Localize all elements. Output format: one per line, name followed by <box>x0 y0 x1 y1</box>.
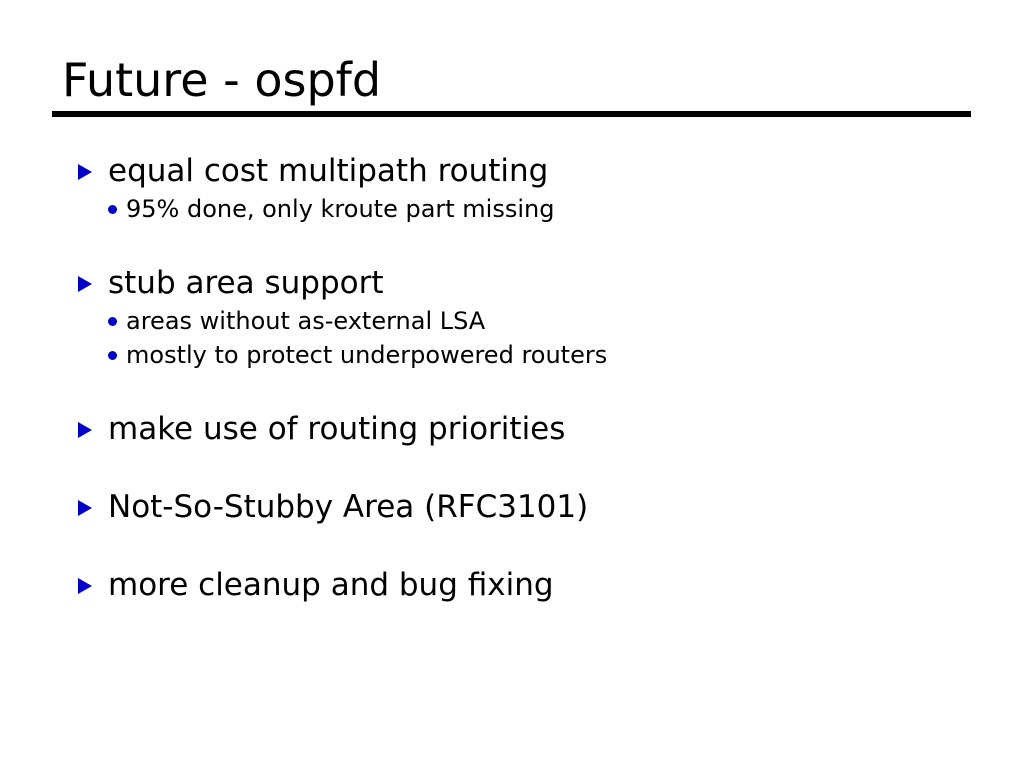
bullet-label: more cleanup and bug fixing <box>108 567 554 603</box>
sub-bullet-label: 95% done, only kroute part missing <box>126 195 554 223</box>
bullet-item-level2: mostly to protect underpowered routers <box>0 338 1024 372</box>
bullet-group: more cleanup and bug fixing <box>0 564 1024 606</box>
triangle-right-bullet-icon <box>78 578 92 594</box>
triangle-right-bullet-icon <box>78 422 92 438</box>
bullet-item-level2: areas without as-external LSA <box>0 304 1024 338</box>
presentation-slide: Future - ospfd equal cost multipath rout… <box>0 0 1024 768</box>
slide-body: equal cost multipath routing 95% done, o… <box>0 150 1024 606</box>
bullet-group: stub area support areas without as-exter… <box>0 262 1024 372</box>
triangle-right-bullet-icon <box>78 500 92 516</box>
page-title: Future - ospfd <box>62 52 381 108</box>
bullet-item-level1: stub area support <box>0 262 1024 304</box>
title-underline-rule <box>52 111 971 117</box>
bullet-label: equal cost multipath routing <box>108 153 548 189</box>
triangle-right-bullet-icon <box>78 164 92 180</box>
round-bullet-icon <box>108 317 117 326</box>
sub-bullet-label: areas without as-external LSA <box>126 307 485 335</box>
bullet-label: make use of routing priorities <box>108 411 565 447</box>
bullet-label: Not-So-Stubby Area (RFC3101) <box>108 489 588 525</box>
bullet-item-level1: Not-So-Stubby Area (RFC3101) <box>0 486 1024 528</box>
bullet-item-level1: make use of routing priorities <box>0 408 1024 450</box>
bullet-label: stub area support <box>108 265 384 301</box>
bullet-group: make use of routing priorities <box>0 408 1024 450</box>
bullet-group: Not-So-Stubby Area (RFC3101) <box>0 486 1024 528</box>
bullet-item-level1: more cleanup and bug fixing <box>0 564 1024 606</box>
sub-bullet-list: 95% done, only kroute part missing <box>0 192 1024 226</box>
round-bullet-icon <box>108 205 117 214</box>
bullet-item-level1: equal cost multipath routing <box>0 150 1024 192</box>
sub-bullet-list: areas without as-external LSA mostly to … <box>0 304 1024 372</box>
bullet-item-level2: 95% done, only kroute part missing <box>0 192 1024 226</box>
triangle-right-bullet-icon <box>78 276 92 292</box>
sub-bullet-label: mostly to protect underpowered routers <box>126 341 607 369</box>
round-bullet-icon <box>108 351 117 360</box>
bullet-group: equal cost multipath routing 95% done, o… <box>0 150 1024 226</box>
